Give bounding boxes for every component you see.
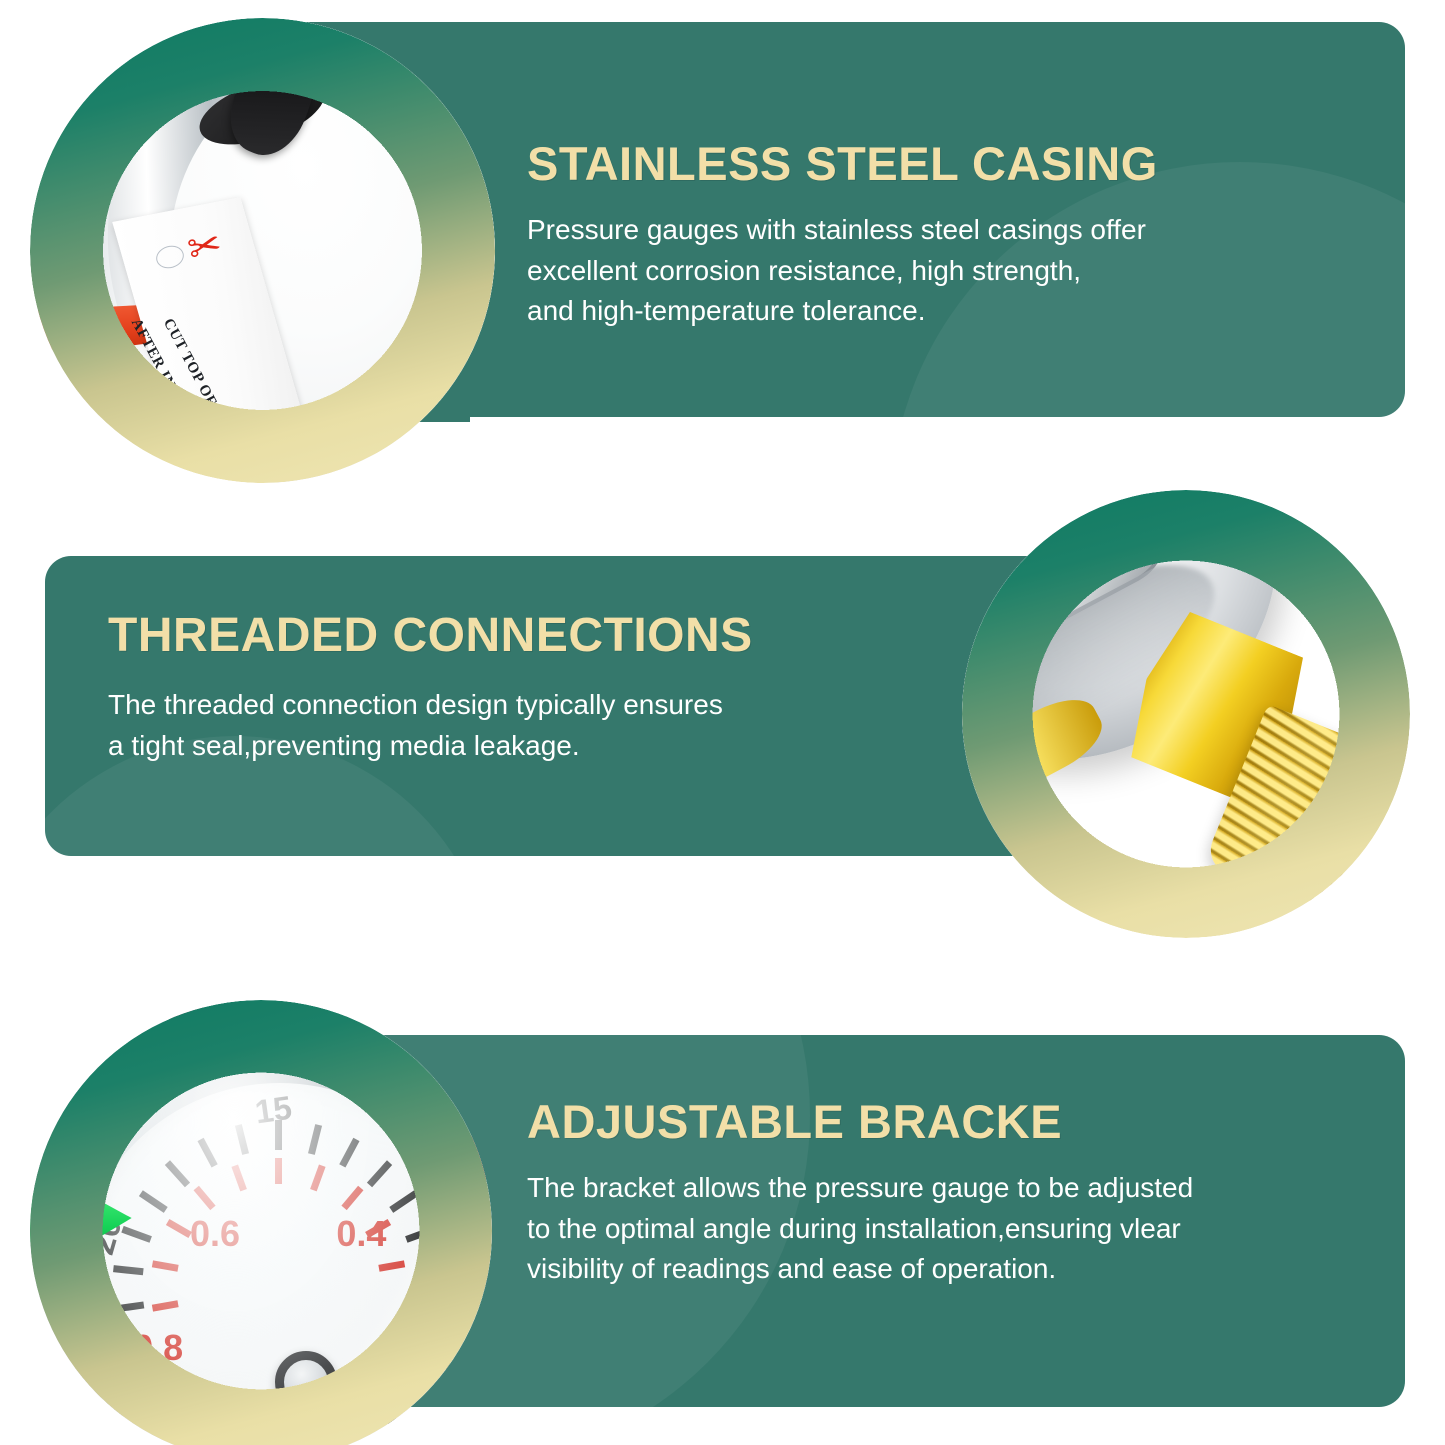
feature-3-body-line-1: The bracket allows the pressure gauge to… [527,1168,1357,1209]
feature-3-heading: ADJUSTABLE BRACKE [527,1098,1357,1146]
feature-1-body-line-2: excellent corrosion resistance, high str… [527,251,1327,292]
threaded-connection-photo-inner [962,490,1410,938]
feature-2-body-line-1: The threaded connection design typically… [108,685,948,726]
feature-1-body-line-3: and high-temperature tolerance. [527,291,1327,332]
gauge-dial-photo-inner: 20 15 10 0.8 0.6 0.4 0.2 bar 100kP [30,1000,492,1445]
feature-2-body-line-2: a tight seal,preventing media leakage. [108,726,948,767]
feature-1-body: Pressure gauges with stainless steel cas… [527,210,1327,332]
threaded-connection-photo [962,490,1410,938]
gauge-casing-photo: ✂ AFTER INSTALLA CUT TOP OF CA [30,18,495,483]
feature-3-body-line-2: to the optimal angle during installation… [527,1209,1357,1250]
feature-2-text-block: THREADED CONNECTIONS The threaded connec… [108,612,948,766]
feature-3-body: The bracket allows the pressure gauge to… [527,1168,1357,1290]
feature-1-body-line-1: Pressure gauges with stainless steel cas… [527,210,1327,251]
feature-3-body-line-3: visibility of readings and ease of opera… [527,1249,1357,1290]
gauge-casing-photo-inner: ✂ AFTER INSTALLA CUT TOP OF CA [30,18,495,483]
feature-2-heading: THREADED CONNECTIONS [108,612,948,661]
feature-2-body: The threaded connection design typically… [108,685,948,766]
gauge-dial-photo: 20 15 10 0.8 0.6 0.4 0.2 bar 100kP [30,1000,492,1445]
infographic-canvas: STAINLESS STEEL CASING Pressure gauges w… [0,0,1445,1445]
feature-1-text-block: STAINLESS STEEL CASING Pressure gauges w… [527,140,1327,332]
feature-1-heading: STAINLESS STEEL CASING [527,140,1327,188]
feature-3-text-block: ADJUSTABLE BRACKE The bracket allows the… [527,1098,1357,1290]
